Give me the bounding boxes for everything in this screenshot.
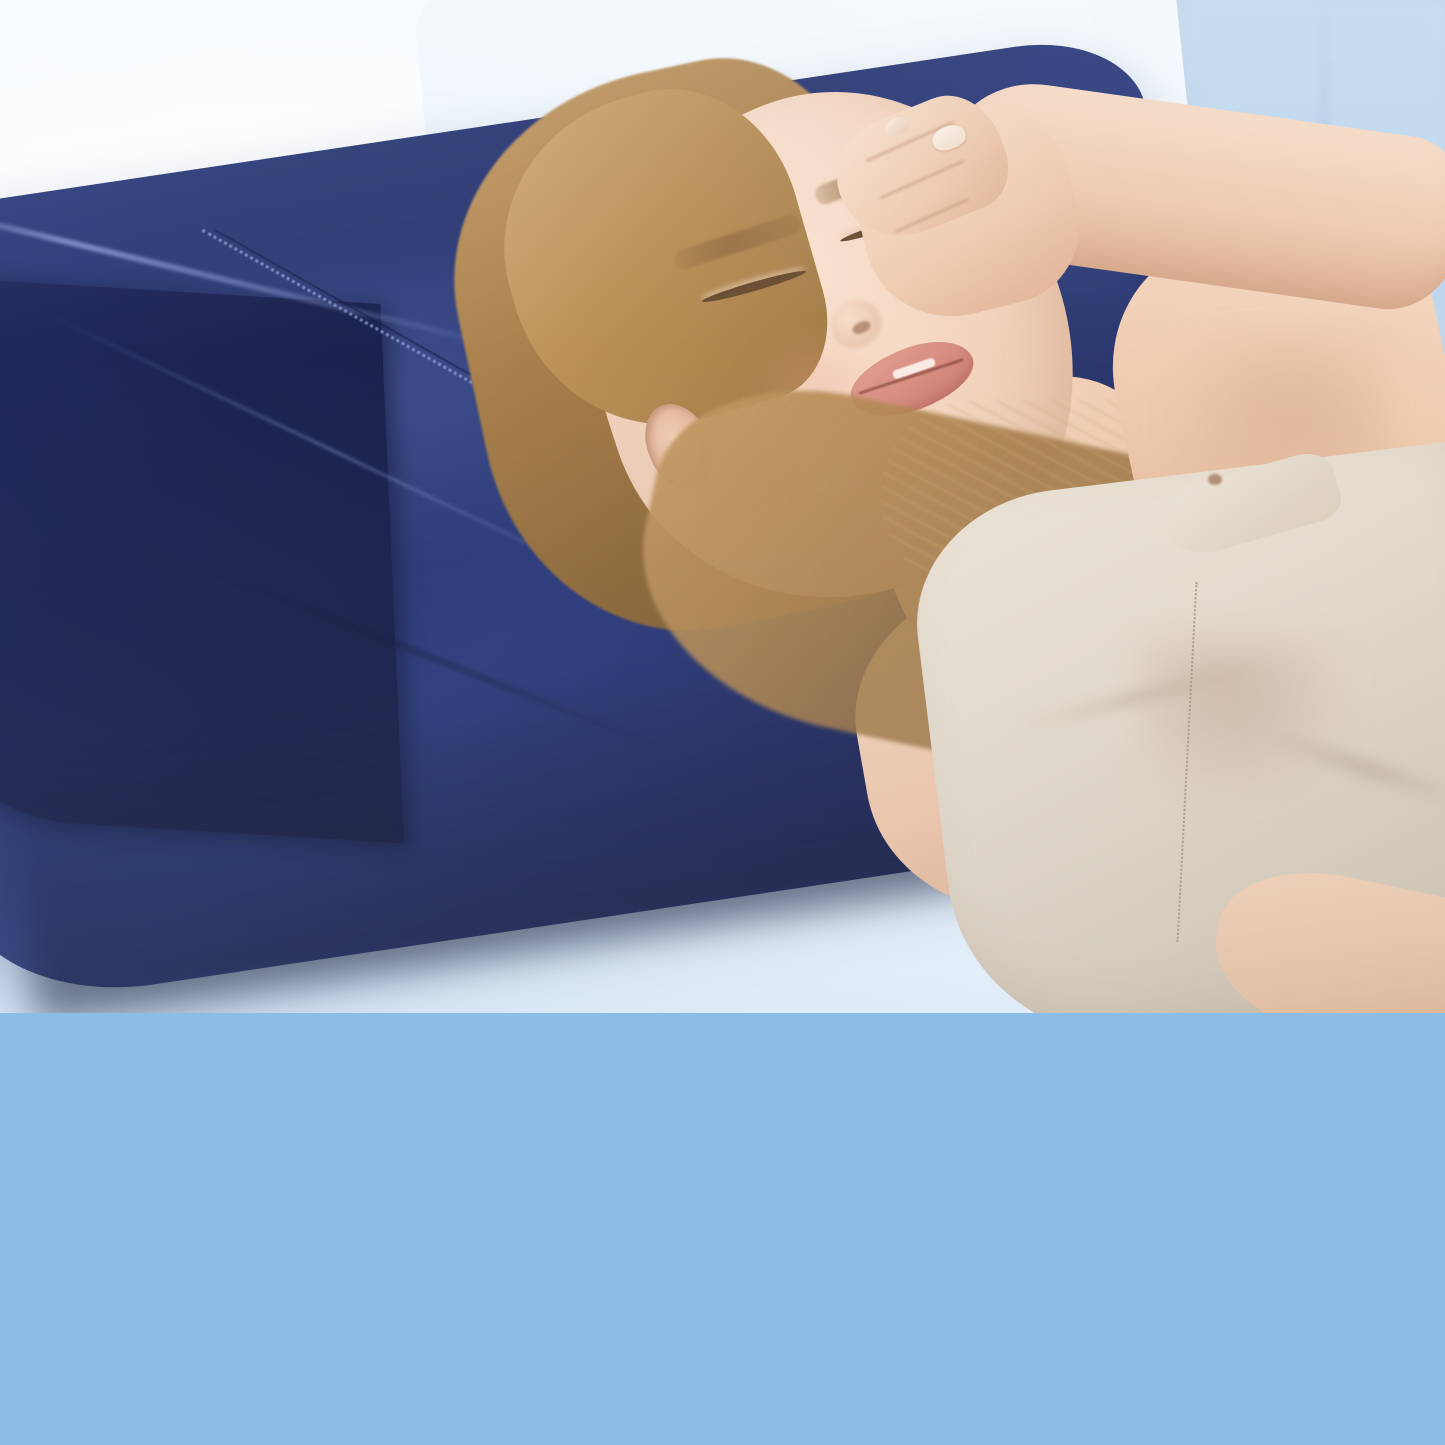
product-lifestyle-photo [0,0,1445,1013]
caption-banner: Envelope Closure Design Ensures the pill… [0,1013,1445,1445]
mole [1208,474,1222,485]
product-feature-card: Envelope Closure Design Ensures the pill… [0,0,1445,1445]
armpit-shadow [1140,640,1360,810]
